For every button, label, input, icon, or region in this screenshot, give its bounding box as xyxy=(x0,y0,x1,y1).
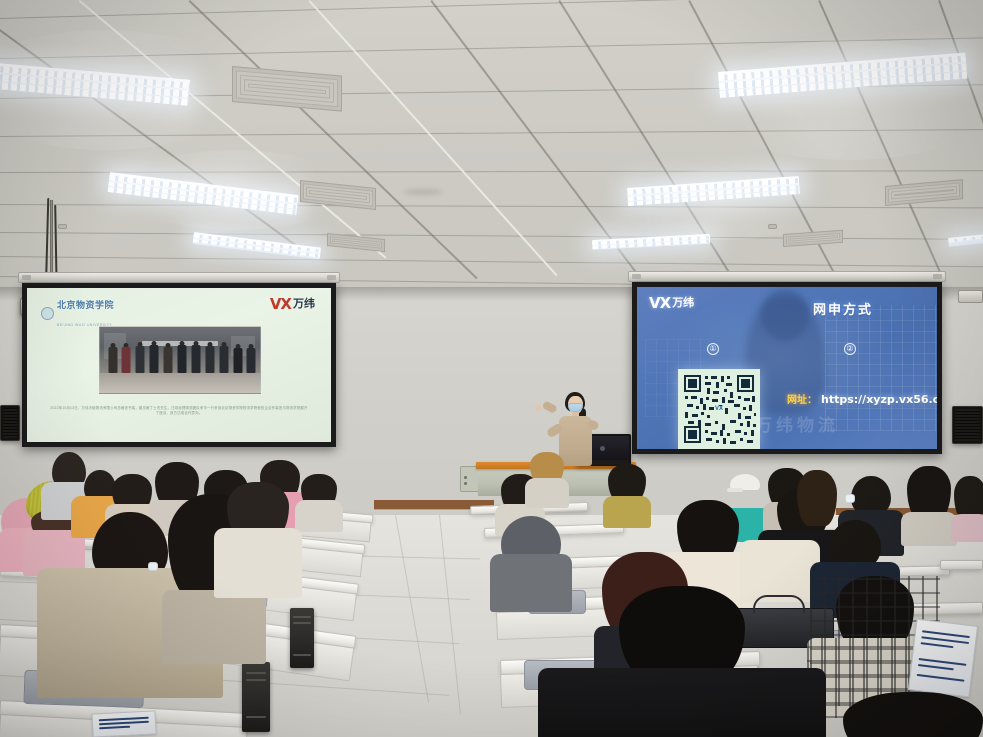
recruitment-flyer[interactable] xyxy=(91,710,156,737)
student-back-row xyxy=(296,474,342,526)
projection-screen-valance xyxy=(628,271,946,282)
vx-latin-mark: VX xyxy=(649,296,670,311)
marker-two: ② xyxy=(844,343,856,355)
slide-watermark: 万纬物流 xyxy=(755,411,839,436)
qr-code[interactable]: VX xyxy=(678,369,760,449)
photo-person xyxy=(233,344,242,377)
student-olive-top xyxy=(604,464,650,522)
recessed-fluorescent-troffer xyxy=(948,233,983,247)
wall-speaker-left xyxy=(0,405,20,441)
ceiling-air-diffuser xyxy=(232,66,342,112)
ceiling-air-diffuser xyxy=(327,233,385,252)
group-photo-formal-attire xyxy=(99,326,261,394)
recessed-fluorescent-troffer xyxy=(193,232,322,260)
photo-person xyxy=(121,343,130,377)
face-mask xyxy=(845,494,855,503)
vx-chinese-mark: 万纬 xyxy=(293,299,315,310)
classroom-presentation-photo: 北京物资学院 BEIJING WUZI UNIVERSITY VX 万纬 xyxy=(0,0,983,737)
student-computer-desk xyxy=(940,560,983,570)
recruitment-flyer[interactable] xyxy=(908,618,978,697)
projection-screen-valance xyxy=(18,272,340,283)
slide-title: 网申方式 xyxy=(813,299,873,318)
student-black-coat-foreground xyxy=(542,586,822,737)
photo-person xyxy=(219,342,228,377)
student-cream-coat xyxy=(216,482,300,588)
face-mask xyxy=(148,562,158,571)
recessed-fluorescent-troffer xyxy=(627,176,800,205)
vx-brand-logo: VX 万纬 xyxy=(649,296,694,311)
right-slide-content: VX 万纬 网申方式 ① ② xyxy=(637,287,937,449)
ceiling-mounted-projector xyxy=(958,290,983,303)
qr-center-logo: VX xyxy=(714,406,724,412)
vx-latin-mark: VX xyxy=(270,297,291,312)
slide-caption: 2022年10月13日，万纬冷链物流有限公司总裁张书瑞，副总裁丁士杰先生、汪靖经… xyxy=(49,406,309,415)
qr-finder-pattern xyxy=(684,375,701,392)
student-edge-right xyxy=(952,476,983,536)
photo-person xyxy=(135,342,144,377)
url-label: 网址： xyxy=(787,391,817,406)
marker-one: ① xyxy=(707,343,719,355)
left-projection-screen[interactable]: 北京物资学院 BEIJING WUZI UNIVERSITY VX 万纬 xyxy=(22,283,336,447)
presenter-hand xyxy=(535,404,542,411)
ceiling-air-diffuser xyxy=(885,179,963,206)
photo-person xyxy=(163,343,172,377)
university-seal-icon xyxy=(41,307,54,320)
application-url[interactable]: 网址： https://xyzp.vx56.com xyxy=(787,391,937,406)
photo-person xyxy=(149,341,158,377)
photo-person xyxy=(108,343,117,377)
ceiling-air-diffuser xyxy=(783,230,843,247)
slide-background-grid xyxy=(825,305,937,431)
desktop-pc-tower xyxy=(242,662,270,732)
slide-background-portrait-head xyxy=(761,289,809,341)
qr-finder-pattern xyxy=(737,375,754,392)
student-far-right xyxy=(902,466,956,538)
photo-person xyxy=(177,341,186,377)
photo-person xyxy=(191,341,200,377)
vx-brand-logo: VX 万纬 xyxy=(270,297,315,312)
url-value: https://xyzp.vx56.com xyxy=(821,393,937,406)
smoke-detector xyxy=(768,224,777,229)
presenter-forearm xyxy=(542,400,558,414)
qr-finder-pattern xyxy=(684,426,701,443)
student-head-bottom-right xyxy=(838,692,983,737)
university-name: 北京物资学院 xyxy=(57,301,114,311)
vx-chinese-mark: 万纬 xyxy=(672,298,694,309)
right-projection-screen[interactable]: VX 万纬 网申方式 ① ② xyxy=(632,282,942,454)
photo-person xyxy=(205,342,214,377)
desktop-pc-tower xyxy=(290,608,314,668)
left-slide-content: 北京物资学院 BEIJING WUZI UNIVERSITY VX 万纬 xyxy=(27,288,331,442)
student-white-cap-hat xyxy=(730,474,760,490)
wall-speaker-right xyxy=(952,406,983,444)
recessed-fluorescent-troffer xyxy=(718,53,967,98)
photo-person xyxy=(246,344,255,377)
smoke-detector xyxy=(58,224,67,229)
suspended-grid-ceiling xyxy=(0,0,983,300)
student-back-left-2 xyxy=(526,452,568,504)
